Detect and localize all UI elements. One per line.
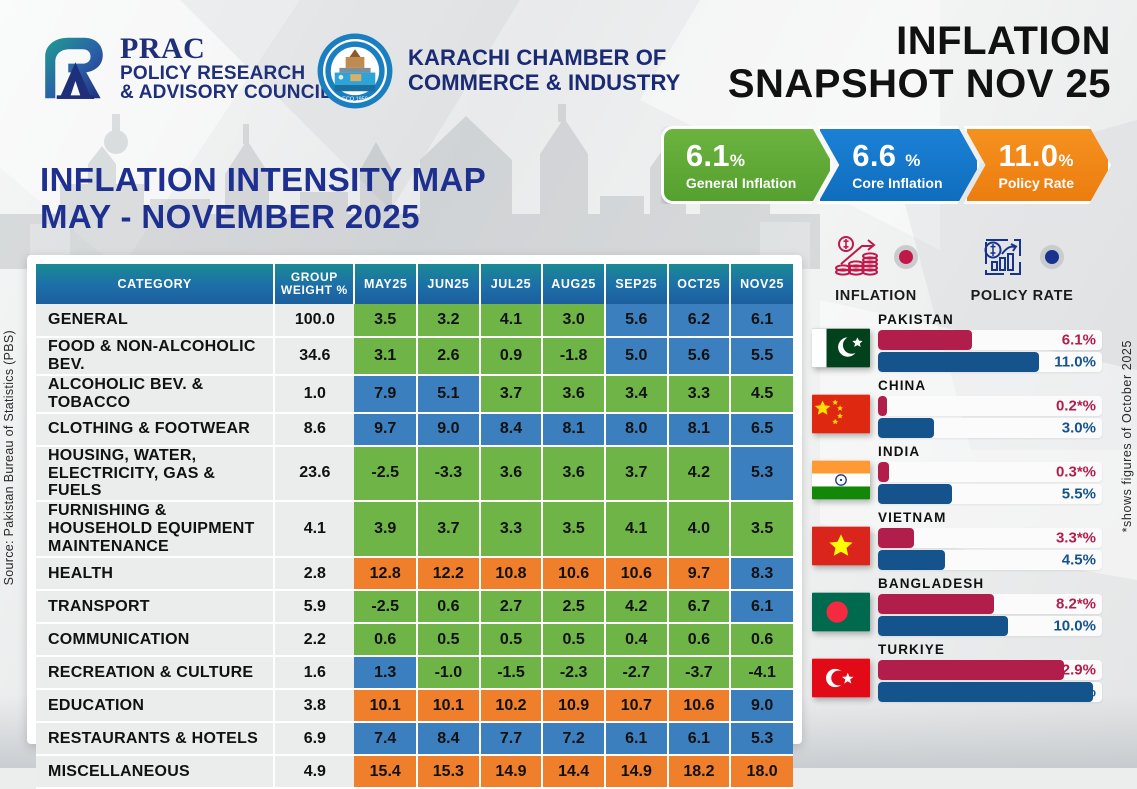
heatmap-cell[interactable]: 3.3 (480, 501, 543, 557)
row-group-weight: 23.6 (274, 446, 354, 502)
heatmap-cell[interactable]: 18.0 (730, 755, 793, 788)
col-header-jul25[interactable]: JUL25 (480, 264, 543, 304)
row-category-label: HOUSING, WATER, ELECTRICITY, GAS & FUELS (36, 446, 274, 502)
legend-policy-dot (1040, 245, 1064, 269)
country-body: INDIA 0.3*% 5.5% (878, 444, 1102, 506)
row-group-weight: 1.6 (274, 656, 354, 689)
inflation-bar-fill (878, 396, 887, 416)
country-body: CHINA 0.2*% 3.0% (878, 378, 1102, 440)
heatmap-cell[interactable]: 15.3 (417, 755, 480, 788)
heatmap-cell[interactable]: 10.1 (417, 689, 480, 722)
heatmap-cell[interactable]: 3.0 (542, 304, 605, 337)
heatmap-cell[interactable]: 2.5 (542, 590, 605, 623)
table-row[interactable]: COMMUNICATION2.20.60.50.50.50.40.60.6 (36, 623, 793, 656)
heatmap-cell[interactable]: 6.1 (668, 722, 731, 755)
policy-bar-row[interactable]: 3.0% (878, 418, 1102, 438)
table-row[interactable]: FOOD & NON-ALCOHOLIC BEV.34.63.12.60.9-1… (36, 337, 793, 375)
row-group-weight: 2.8 (274, 557, 354, 590)
inflation-bar-row[interactable]: 6.1% (878, 330, 1102, 350)
prac-monogram-icon (38, 32, 110, 104)
policy-value: 11.0% (1054, 354, 1096, 371)
heatmap-cell[interactable]: 0.4 (605, 623, 668, 656)
heatmap-cell[interactable]: 5.0 (605, 337, 668, 375)
heatmap-cell[interactable]: 12.2 (417, 557, 480, 590)
heatmap-cell[interactable]: 8.0 (605, 413, 668, 446)
country-body: BANGLADESH 8.2*% 10.0% (878, 576, 1102, 638)
kcci-line-1: KARACHI CHAMBER OF (408, 46, 680, 71)
heatmap-cell[interactable]: 0.9 (480, 337, 543, 375)
col-header-aug25[interactable]: AUG25 (542, 264, 605, 304)
kcci-seal-icon: ECO 1959 (316, 32, 394, 110)
heatmap-cell[interactable]: 0.6 (417, 590, 480, 623)
bar-chart-document-icon (980, 234, 1030, 280)
inflation-bar-row[interactable]: 32.9% (878, 660, 1102, 680)
policy-bar-fill (878, 484, 952, 504)
row-category-label: MISCELLANEOUS (36, 755, 274, 788)
country-row[interactable]: PAKISTAN 6.1% 11.0% (812, 312, 1102, 374)
row-category-label: FOOD & NON-ALCOHOLIC BEV. (36, 337, 274, 375)
svg-text:ECO 1959: ECO 1959 (342, 97, 367, 103)
heatmap-cell[interactable]: 10.9 (542, 689, 605, 722)
table-row[interactable]: GENERAL100.03.53.24.13.05.66.26.1 (36, 304, 793, 337)
kpi-strip: 6.1% General Inflation 6.6 % Core Inflat… (661, 126, 1111, 204)
inflation-value: 0.3*% (1056, 464, 1096, 481)
col-header-category[interactable]: CATEGORY (36, 264, 274, 304)
inflation-bar-fill (878, 462, 889, 482)
heatmap-cell[interactable]: 8.1 (542, 413, 605, 446)
col-header-sep25[interactable]: SEP25 (605, 264, 668, 304)
heatmap-cell[interactable]: 10.7 (605, 689, 668, 722)
inflation-bar-fill (878, 660, 1064, 680)
country-flag (812, 642, 878, 698)
table-row[interactable]: ALCOHOLIC BEV. & TOBACCO1.07.95.13.73.63… (36, 375, 793, 413)
country-row[interactable]: INDIA 0.3*% 5.5% (812, 444, 1102, 506)
heatmap-cell[interactable]: 3.5 (730, 501, 793, 557)
heatmap-cell[interactable]: -2.5 (354, 590, 417, 623)
india-flag-icon (812, 460, 870, 500)
legend-inflation: INFLATION (812, 228, 940, 304)
heatmap-cell[interactable]: 4.1 (605, 501, 668, 557)
legend-inflation-dot (894, 245, 918, 269)
heatmap-cell[interactable]: 5.3 (730, 722, 793, 755)
legend-row: INFLATION POLICY (812, 228, 1102, 304)
page-title: INFLATION SNAPSHOT NOV 25 (728, 20, 1111, 106)
heatmap-cell[interactable]: 7.2 (542, 722, 605, 755)
heatmap-cell[interactable]: 10.6 (605, 557, 668, 590)
heatmap-cell[interactable]: -2.5 (354, 446, 417, 502)
heatmap-cell[interactable]: 12.8 (354, 557, 417, 590)
heatmap-cell[interactable]: 10.6 (542, 557, 605, 590)
legend-policy-label: POLICY RATE (958, 288, 1086, 304)
heatmap-cell[interactable]: 0.6 (730, 623, 793, 656)
heatmap-cell[interactable]: -4.1 (730, 656, 793, 689)
heatmap-cell[interactable]: 0.5 (417, 623, 480, 656)
kpi-general-inflation-value: 6.1% (686, 140, 796, 171)
inflation-value: 8.2*% (1056, 596, 1096, 613)
table-row[interactable]: EDUCATION3.810.110.110.210.910.710.69.0 (36, 689, 793, 722)
heatmap-cell[interactable]: 0.6 (354, 623, 417, 656)
policy-value: 39.5% (1053, 684, 1096, 701)
col-header-nov25[interactable]: NOV25 (730, 264, 793, 304)
table-body: GENERAL100.03.53.24.13.05.66.26.1FOOD & … (36, 304, 793, 788)
policy-value: 4.5% (1062, 552, 1096, 569)
heatmap-cell[interactable]: 3.6 (542, 446, 605, 502)
country-row[interactable]: CHINA 0.2*% 3.0% (812, 378, 1102, 440)
heatmap-cell[interactable]: 8.3 (730, 557, 793, 590)
table-row[interactable]: CLOTHING & FOOTWEAR8.69.79.08.48.18.08.1… (36, 413, 793, 446)
heatmap-cell[interactable]: 3.6 (480, 446, 543, 502)
prac-tagline-2: & ADVISORY COUNCIL (120, 83, 332, 102)
heatmap-cell[interactable]: -2.3 (542, 656, 605, 689)
heatmap-cell[interactable]: 10.2 (480, 689, 543, 722)
heatmap-cell[interactable]: 9.0 (417, 413, 480, 446)
kpi-policy-rate-label: Policy Rate (999, 175, 1074, 191)
heatmap-cell[interactable]: 7.9 (354, 375, 417, 413)
page-title-line-2: SNAPSHOT NOV 25 (728, 63, 1111, 106)
legend-inflation-iconrow (812, 228, 940, 286)
kpi-core-inflation-value: 6.6 % (852, 140, 942, 171)
inflation-value: 32.9% (1053, 662, 1096, 679)
country-comparison-panel: INFLATION POLICY (812, 228, 1102, 708)
heatmap-cell[interactable]: 3.7 (605, 446, 668, 502)
heatmap-cell[interactable]: 5.3 (730, 446, 793, 502)
heatmap-cell[interactable]: -3.3 (417, 446, 480, 502)
policy-bar-row[interactable]: 10.0% (878, 616, 1102, 636)
col-header-may25[interactable]: MAY25 (354, 264, 417, 304)
inflation-bar-row[interactable]: 8.2*% (878, 594, 1102, 614)
heatmap-cell[interactable]: 4.1 (480, 304, 543, 337)
page-header: PRAC POLICY RESEARCH & ADVISORY COUNCIL … (0, 0, 1137, 118)
country-list: PAKISTAN 6.1% 11.0% CHINA 0.2*% (812, 312, 1102, 704)
heatmap-cell[interactable]: 10.8 (480, 557, 543, 590)
vietnam-flag-icon (812, 526, 870, 566)
row-category-label: ALCOHOLIC BEV. & TOBACCO (36, 375, 274, 413)
heatmap-cell[interactable]: 3.1 (354, 337, 417, 375)
heatmap-cell[interactable]: -2.7 (605, 656, 668, 689)
row-group-weight: 4.1 (274, 501, 354, 557)
pakistan-flag-icon (812, 328, 870, 368)
inflation-bar-row[interactable]: 0.2*% (878, 396, 1102, 416)
coins-rising-arrow-icon (834, 234, 884, 280)
heatmap-cell[interactable]: 3.3 (668, 375, 731, 413)
heatmap-cell[interactable]: 4.5 (730, 375, 793, 413)
source-note-right: *shows figures of October 2025 (1120, 340, 1134, 532)
policy-bar-fill (878, 616, 1008, 636)
table-row[interactable]: FURNISHING & HOUSEHOLD EQUIPMENT MAINTEN… (36, 501, 793, 557)
table-header-row: CATEGORY GROUP WEIGHT % MAY25 JUN25 JUL2… (36, 264, 793, 304)
country-row[interactable]: VIETNAM 3.3*% 4.5% (812, 510, 1102, 572)
heatmap-cell[interactable]: 6.2 (668, 304, 731, 337)
country-flag (812, 312, 878, 368)
country-body: VIETNAM 3.3*% 4.5% (878, 510, 1102, 572)
heatmap-cell[interactable]: 5.6 (668, 337, 731, 375)
kpi-general-inflation[interactable]: 6.1% General Inflation (661, 126, 833, 204)
heatmap-cell[interactable]: 5.6 (605, 304, 668, 337)
heatmap-cell[interactable]: 5.1 (417, 375, 480, 413)
row-group-weight: 100.0 (274, 304, 354, 337)
intensity-map-card: CATEGORY GROUP WEIGHT % MAY25 JUN25 JUL2… (27, 255, 802, 744)
heatmap-cell[interactable]: 14.4 (542, 755, 605, 788)
inflation-value: 3.3*% (1056, 530, 1096, 547)
country-flag (812, 444, 878, 500)
country-name: VIETNAM (878, 510, 1102, 525)
bangladesh-flag-icon (812, 592, 870, 632)
country-flag (812, 510, 878, 566)
heatmap-cell[interactable]: 18.2 (668, 755, 731, 788)
row-category-label: HEALTH (36, 557, 274, 590)
heatmap-cell[interactable]: 15.4 (354, 755, 417, 788)
heatmap-cell[interactable]: 0.6 (668, 623, 731, 656)
heatmap-cell[interactable]: 3.9 (354, 501, 417, 557)
country-name: TURKIYE (878, 642, 1102, 657)
col-header-oct25[interactable]: OCT25 (668, 264, 731, 304)
policy-bar-fill (878, 352, 1039, 372)
policy-value: 5.5% (1062, 486, 1096, 503)
heatmap-cell[interactable]: 2.6 (417, 337, 480, 375)
row-category-label: TRANSPORT (36, 590, 274, 623)
heatmap-cell[interactable]: 7.7 (480, 722, 543, 755)
heatmap-cell[interactable]: -1.0 (417, 656, 480, 689)
country-name: CHINA (878, 378, 1102, 393)
policy-bar-row[interactable]: 5.5% (878, 484, 1102, 504)
heatmap-cell[interactable]: 3.4 (605, 375, 668, 413)
table-row[interactable]: TRANSPORT5.9-2.50.62.72.54.26.76.1 (36, 590, 793, 623)
inflation-bar-row[interactable]: 3.3*% (878, 528, 1102, 548)
row-category-label: COMMUNICATION (36, 623, 274, 656)
heatmap-cell[interactable]: 1.3 (354, 656, 417, 689)
prac-logo: PRAC POLICY RESEARCH & ADVISORY COUNCIL (38, 32, 332, 104)
section-title-intensity-map: INFLATION INTENSITY MAP MAY - NOVEMBER 2… (40, 162, 486, 236)
heatmap-cell[interactable]: 10.6 (668, 689, 731, 722)
heatmap-cell[interactable]: 6.7 (668, 590, 731, 623)
section-title-line-2: MAY - NOVEMBER 2025 (40, 199, 486, 236)
country-flag (812, 576, 878, 632)
heatmap-cell[interactable]: 6.1 (605, 722, 668, 755)
china-flag-icon (812, 394, 870, 434)
turkiye-flag-icon (812, 658, 870, 698)
heatmap-cell[interactable]: 3.2 (417, 304, 480, 337)
heatmap-cell[interactable]: 2.7 (480, 590, 543, 623)
heatmap-cell[interactable]: 14.9 (480, 755, 543, 788)
kpi-general-inflation-label: General Inflation (686, 175, 796, 191)
policy-bar-fill (878, 418, 934, 438)
prac-wordmark: PRAC POLICY RESEARCH & ADVISORY COUNCIL (120, 34, 332, 102)
heatmap-cell[interactable]: 0.5 (542, 623, 605, 656)
heatmap-cell[interactable]: 10.1 (354, 689, 417, 722)
heatmap-cell[interactable]: 3.7 (480, 375, 543, 413)
row-category-label: EDUCATION (36, 689, 274, 722)
table-row[interactable]: HOUSING, WATER, ELECTRICITY, GAS & FUELS… (36, 446, 793, 502)
heatmap-cell[interactable]: 4.0 (668, 501, 731, 557)
legend-policy-iconrow (958, 228, 1086, 286)
table-head: CATEGORY GROUP WEIGHT % MAY25 JUN25 JUL2… (36, 264, 793, 304)
heatmap-cell[interactable]: 6.1 (730, 304, 793, 337)
col-header-group-weight[interactable]: GROUP WEIGHT % (274, 264, 354, 304)
row-category-label: CLOTHING & FOOTWEAR (36, 413, 274, 446)
country-flag (812, 378, 878, 434)
heatmap-cell[interactable]: 5.5 (730, 337, 793, 375)
heatmap-cell[interactable]: 9.7 (354, 413, 417, 446)
country-name: PAKISTAN (878, 312, 1102, 327)
heatmap-cell[interactable]: 3.5 (542, 501, 605, 557)
policy-bar-row[interactable]: 11.0% (878, 352, 1102, 372)
country-name: BANGLADESH (878, 576, 1102, 591)
legend-inflation-label: INFLATION (812, 288, 940, 304)
heatmap-cell[interactable]: 9.7 (668, 557, 731, 590)
heatmap-cell[interactable]: 6.1 (730, 590, 793, 623)
col-header-group-weight-l2: WEIGHT % (275, 284, 353, 297)
country-body: PAKISTAN 6.1% 11.0% (878, 312, 1102, 374)
heatmap-cell[interactable]: 3.5 (354, 304, 417, 337)
row-group-weight: 4.9 (274, 755, 354, 788)
kpi-core-inflation[interactable]: 6.6 % Core Inflation (817, 126, 979, 204)
inflation-bar-fill (878, 330, 972, 350)
inflation-value: 6.1% (1062, 332, 1096, 349)
row-group-weight: 2.2 (274, 623, 354, 656)
country-row[interactable]: TURKIYE 32.9% 39.5% (812, 642, 1102, 704)
row-category-label: FURNISHING & HOUSEHOLD EQUIPMENT MAINTEN… (36, 501, 274, 557)
inflation-bar-fill (878, 528, 914, 548)
heatmap-cell[interactable]: 14.9 (605, 755, 668, 788)
country-body: TURKIYE 32.9% 39.5% (878, 642, 1102, 704)
policy-bar-fill (878, 550, 945, 570)
inflation-value: 0.2*% (1056, 398, 1096, 415)
policy-value: 3.0% (1062, 420, 1096, 437)
policy-bar-row[interactable]: 4.5% (878, 550, 1102, 570)
kcci-logo: ECO 1959 KARACHI CHAMBER OF COMMERCE & I… (316, 32, 680, 110)
row-group-weight: 5.9 (274, 590, 354, 623)
kcci-line-2: COMMERCE & INDUSTRY (408, 71, 680, 96)
heatmap-cell[interactable]: 3.6 (542, 375, 605, 413)
table-row[interactable]: MISCELLANEOUS4.915.415.314.914.414.918.2… (36, 755, 793, 788)
country-row[interactable]: BANGLADESH 8.2*% 10.0% (812, 576, 1102, 638)
heatmap-cell[interactable]: 6.5 (730, 413, 793, 446)
kpi-policy-rate[interactable]: 11.0% Policy Rate (964, 126, 1111, 204)
heatmap-cell[interactable]: 4.2 (668, 446, 731, 502)
row-category-label: RESTAURANTS & HOTELS (36, 722, 274, 755)
heatmap-cell[interactable]: 3.7 (417, 501, 480, 557)
prac-name: PRAC (120, 34, 332, 64)
inflation-bar-row[interactable]: 0.3*% (878, 462, 1102, 482)
table-row[interactable]: RESTAURANTS & HOTELS6.97.48.47.77.26.16.… (36, 722, 793, 755)
heatmap-cell[interactable]: 8.1 (668, 413, 731, 446)
row-category-label: RECREATION & CULTURE (36, 656, 274, 689)
col-header-jun25[interactable]: JUN25 (417, 264, 480, 304)
row-group-weight: 3.8 (274, 689, 354, 722)
inflation-intensity-table: CATEGORY GROUP WEIGHT % MAY25 JUN25 JUL2… (36, 264, 793, 789)
heatmap-cell[interactable]: 8.4 (480, 413, 543, 446)
country-name: INDIA (878, 444, 1102, 459)
table-row[interactable]: HEALTH2.812.812.210.810.610.69.78.3 (36, 557, 793, 590)
source-note-left: Source: Pakistan Bureau of Statistics (P… (2, 330, 16, 585)
heatmap-cell[interactable]: 4.2 (605, 590, 668, 623)
heatmap-cell[interactable]: -3.7 (668, 656, 731, 689)
inflation-bar-fill (878, 594, 994, 614)
row-group-weight: 1.0 (274, 375, 354, 413)
heatmap-cell[interactable]: 9.0 (730, 689, 793, 722)
kpi-policy-rate-value: 11.0% (999, 140, 1074, 171)
row-group-weight: 6.9 (274, 722, 354, 755)
heatmap-cell[interactable]: -1.8 (542, 337, 605, 375)
kpi-core-inflation-label: Core Inflation (852, 175, 942, 191)
legend-policy-rate: POLICY RATE (958, 228, 1086, 304)
heatmap-cell[interactable]: 8.4 (417, 722, 480, 755)
col-header-group-weight-l1: GROUP (275, 271, 353, 284)
prac-tagline-1: POLICY RESEARCH (120, 64, 332, 83)
heatmap-cell[interactable]: -1.5 (480, 656, 543, 689)
policy-bar-row[interactable]: 39.5% (878, 682, 1102, 702)
heatmap-cell[interactable]: 7.4 (354, 722, 417, 755)
row-group-weight: 8.6 (274, 413, 354, 446)
table-row[interactable]: RECREATION & CULTURE1.61.3-1.0-1.5-2.3-2… (36, 656, 793, 689)
kcci-wordmark: KARACHI CHAMBER OF COMMERCE & INDUSTRY (408, 46, 680, 95)
heatmap-cell[interactable]: 0.5 (480, 623, 543, 656)
row-group-weight: 34.6 (274, 337, 354, 375)
policy-value: 10.0% (1053, 618, 1096, 635)
page-title-line-1: INFLATION (728, 20, 1111, 63)
section-title-line-1: INFLATION INTENSITY MAP (40, 162, 486, 199)
row-category-label: GENERAL (36, 304, 274, 337)
